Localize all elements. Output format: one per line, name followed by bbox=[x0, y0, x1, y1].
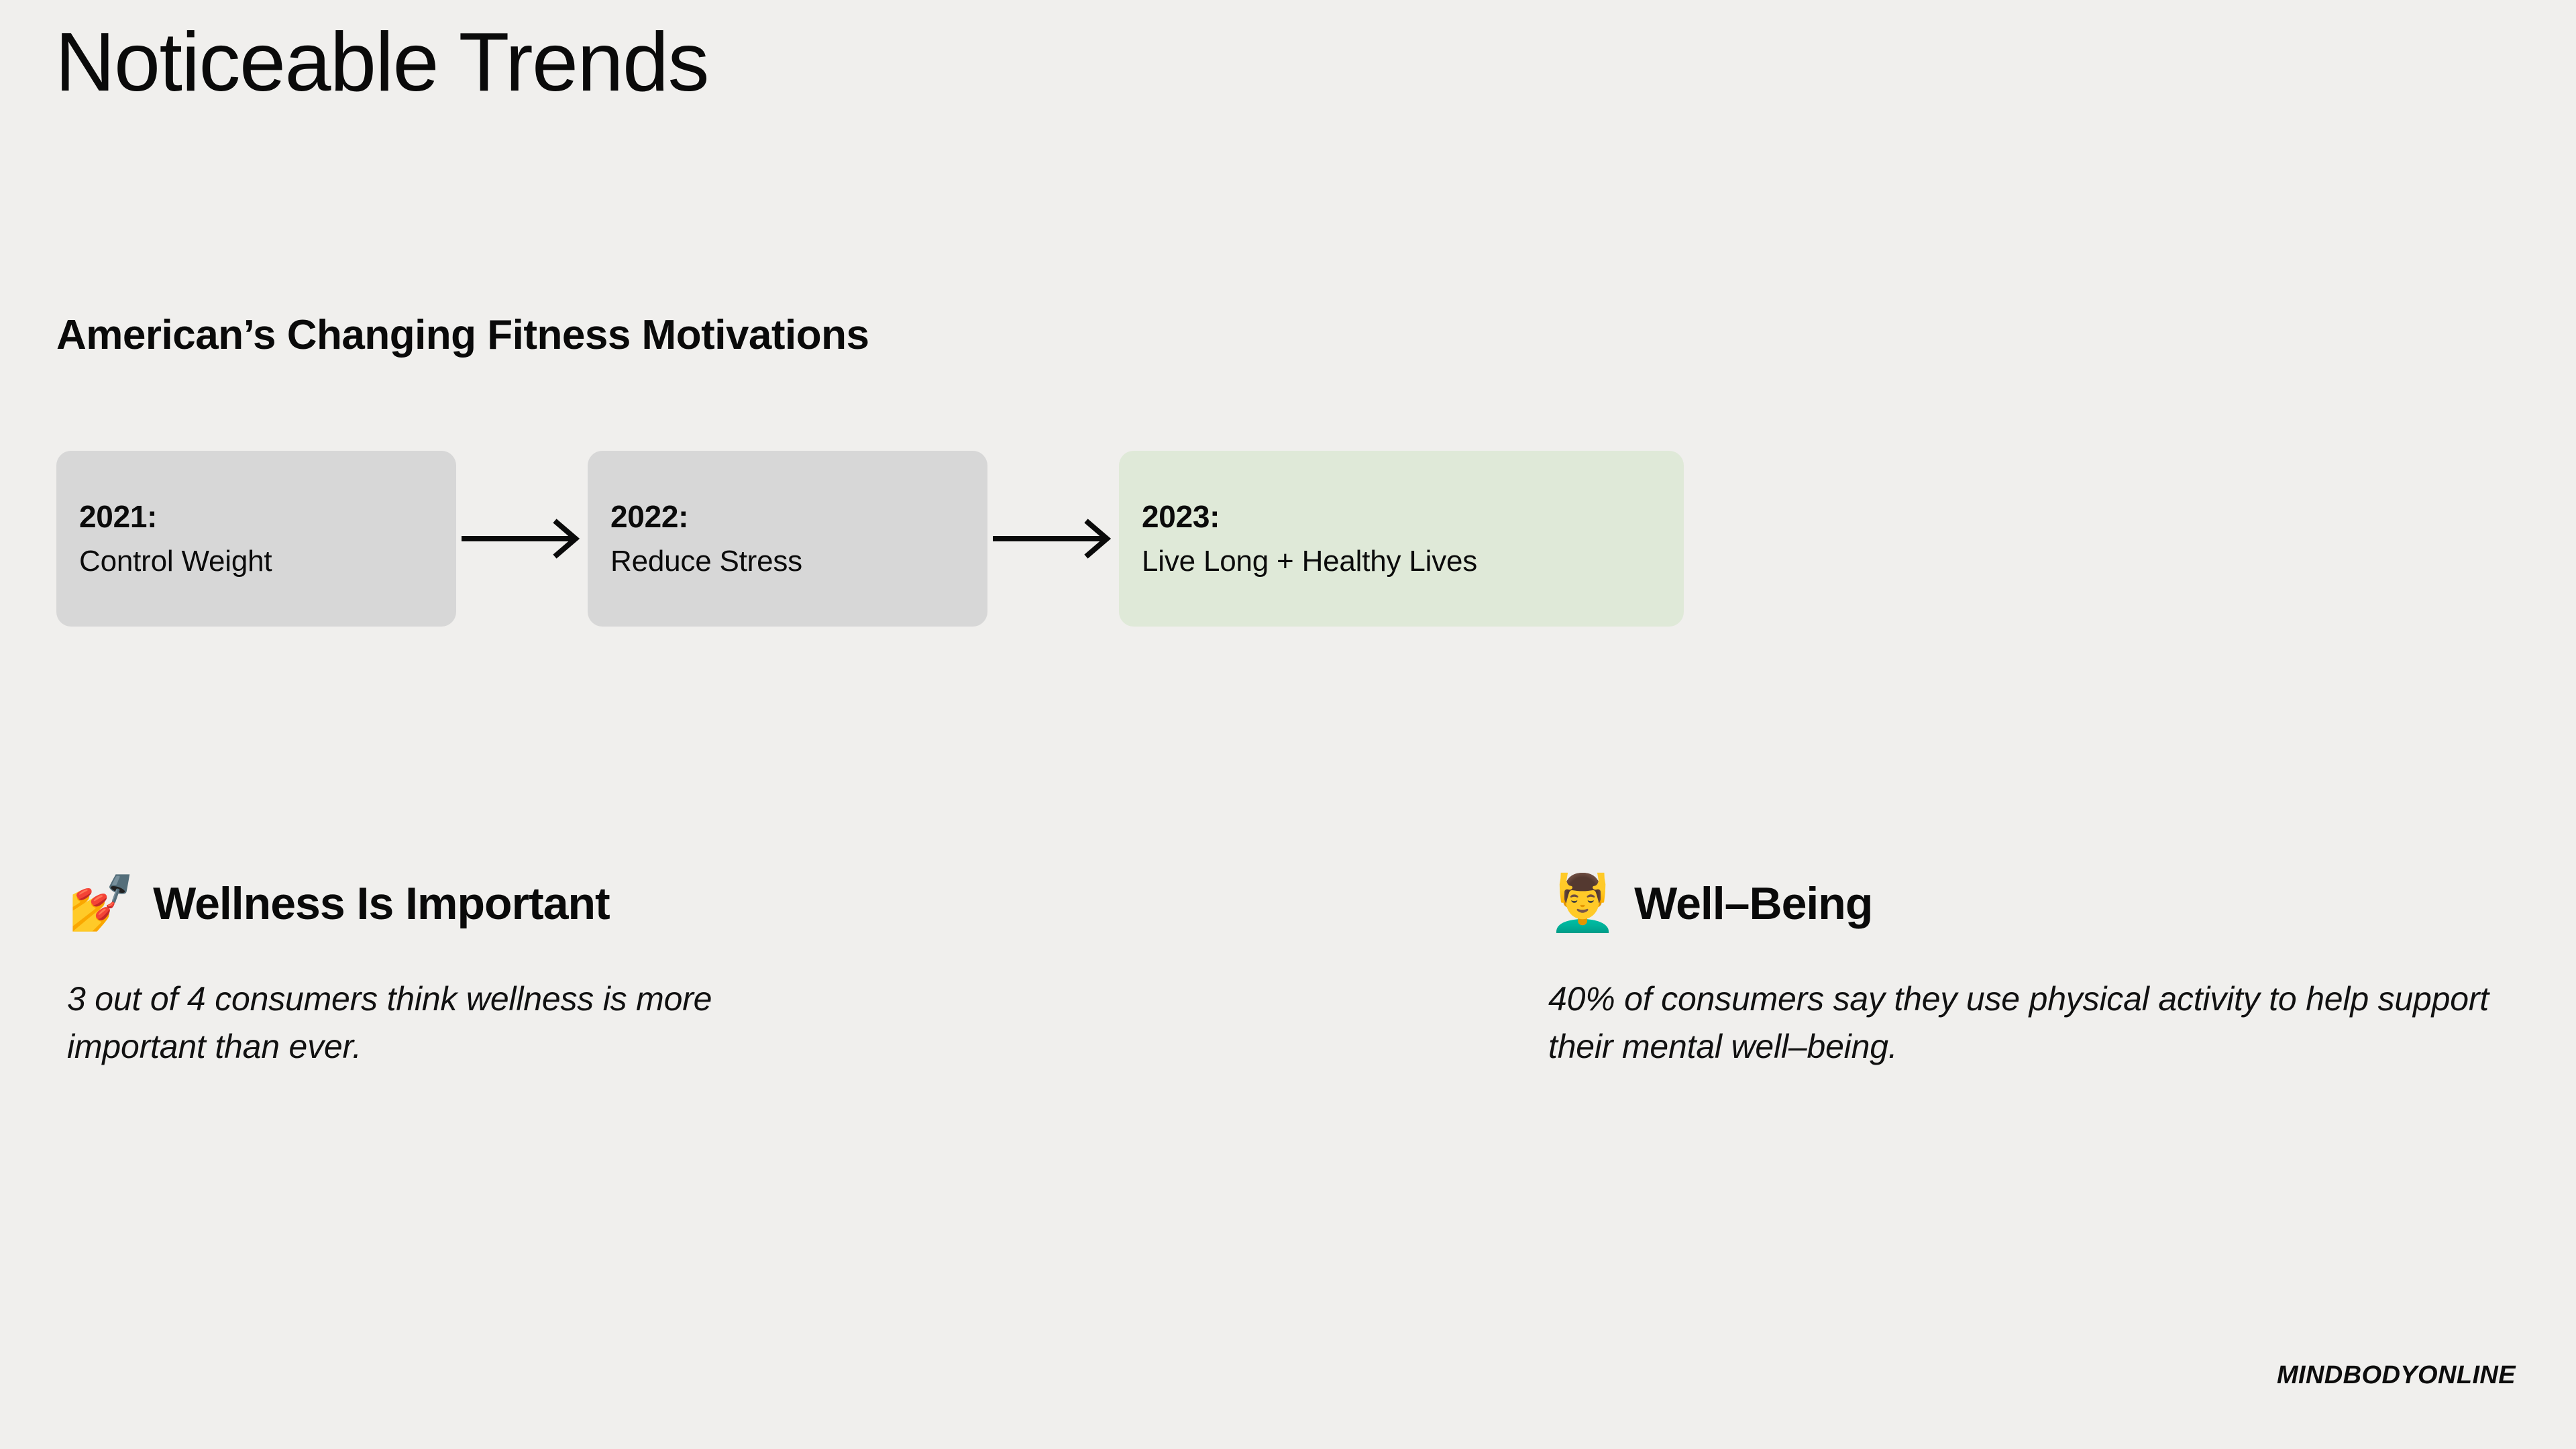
brand-logo-text: MINDBODYONLINE bbox=[2277, 1361, 2516, 1390]
stat-heading-row: 💆‍♂️ Well–Being bbox=[1548, 864, 2501, 943]
flow-step-2023: 2023: Live Long + Healthy Lives bbox=[1119, 451, 1684, 627]
stat-body-text: 40% of consumers say they use physical a… bbox=[1548, 975, 2501, 1071]
arrow-right-icon bbox=[456, 519, 588, 559]
stat-body-text: 3 out of 4 consumers think wellness is m… bbox=[67, 975, 859, 1071]
stat-title: Well–Being bbox=[1634, 881, 1872, 926]
page-title: Noticeable Trends bbox=[55, 19, 708, 106]
fitness-motivation-flow: 2021: Control Weight 2022: Reduce Stress… bbox=[56, 451, 1684, 627]
nail-polish-emoji: 💅 bbox=[67, 876, 136, 931]
stat-title: Wellness Is Important bbox=[153, 881, 610, 926]
flow-step-label: Reduce Stress bbox=[610, 547, 965, 576]
flow-step-year: 2023: bbox=[1142, 501, 1661, 532]
flow-step-2022: 2022: Reduce Stress bbox=[588, 451, 987, 627]
stat-wellness-is-important: 💅 Wellness Is Important 3 out of 4 consu… bbox=[67, 864, 859, 1071]
stat-well-being: 💆‍♂️ Well–Being 40% of consumers say the… bbox=[1548, 864, 2501, 1071]
person-getting-massage-emoji: 💆‍♂️ bbox=[1548, 876, 1617, 931]
flow-step-label: Live Long + Healthy Lives bbox=[1142, 547, 1661, 576]
arrow-right-icon bbox=[987, 519, 1119, 559]
stat-heading-row: 💅 Wellness Is Important bbox=[67, 864, 859, 943]
flow-step-2021: 2021: Control Weight bbox=[56, 451, 456, 627]
flow-step-year: 2022: bbox=[610, 501, 965, 532]
flow-step-label: Control Weight bbox=[79, 547, 433, 576]
stats-row: 💅 Wellness Is Important 3 out of 4 consu… bbox=[0, 864, 2576, 1146]
section-heading: American’s Changing Fitness Motivations bbox=[56, 313, 869, 358]
flow-step-year: 2021: bbox=[79, 501, 433, 532]
